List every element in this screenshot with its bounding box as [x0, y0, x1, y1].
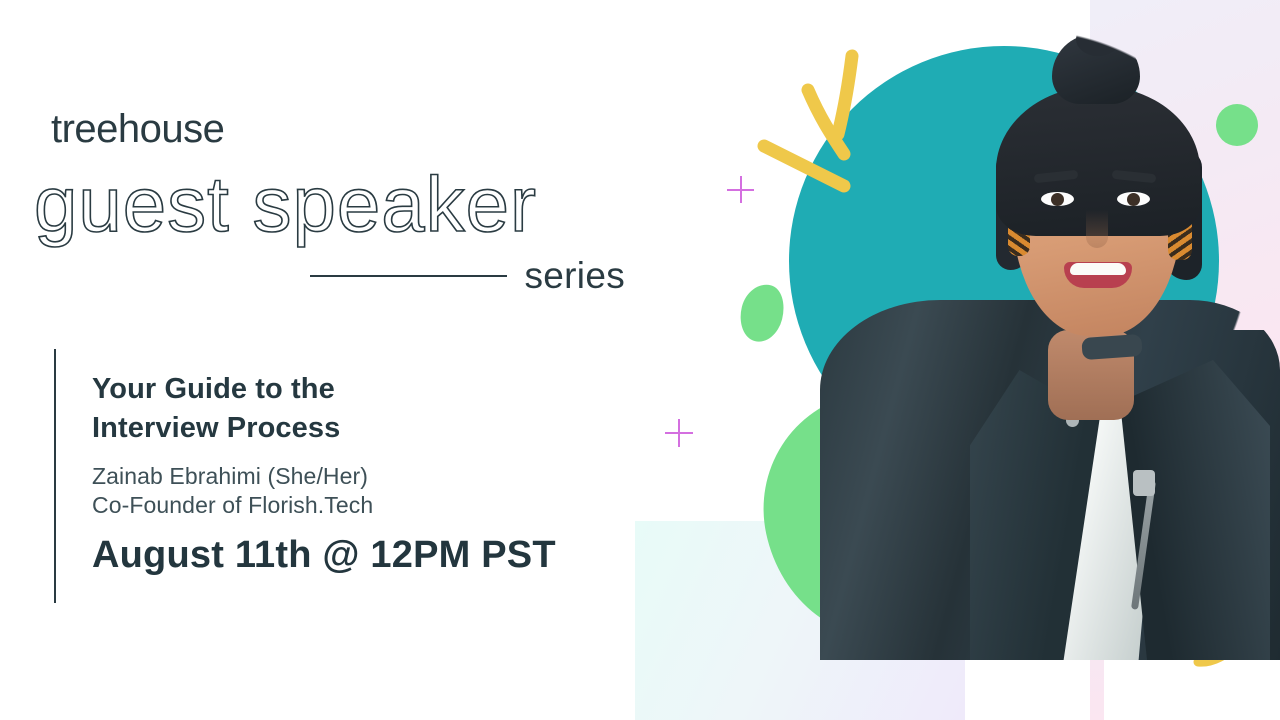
portrait-clip	[820, 0, 1280, 660]
gradient-panel-bottom-right	[1090, 650, 1104, 720]
series-divider-rule	[310, 275, 507, 277]
event-date-time: August 11th @ 12PM PST	[92, 534, 556, 577]
talk-title-line-1: Your Guide to the	[92, 370, 552, 409]
plus-mark-icon-2	[665, 419, 693, 447]
teeth-shape	[1070, 263, 1126, 275]
speaker-role: Co-Founder of Florish.Tech	[92, 490, 373, 521]
iris-right	[1127, 193, 1140, 206]
hair-bun-knot	[1076, 22, 1120, 56]
promo-slide: treehouse guest speaker series Your Guid…	[0, 0, 1280, 720]
green-blob-small	[735, 280, 790, 346]
text-column: treehouse guest speaker series Your Guid…	[0, 0, 660, 720]
iris-left	[1051, 193, 1064, 206]
jacket-collar-tab	[1081, 334, 1142, 360]
treehouse-wordmark: treehouse	[51, 109, 224, 149]
talk-title-line-2: Interview Process	[92, 409, 552, 448]
series-row: series	[310, 253, 625, 299]
talk-title: Your Guide to the Interview Process	[92, 370, 552, 447]
speaker-name: Zainab Ebrahimi (She/Her)	[92, 461, 368, 492]
plus-mark-icon-1	[727, 176, 754, 203]
speaker-portrait	[820, 0, 1280, 660]
series-label: series	[525, 255, 626, 297]
headline-guest-speaker: guest speaker	[34, 165, 537, 243]
jacket-zipper-pull	[1133, 470, 1155, 496]
vertical-accent-rule	[54, 349, 56, 603]
jacket-lapel-right	[1120, 360, 1270, 660]
nose-shape	[1086, 210, 1108, 248]
